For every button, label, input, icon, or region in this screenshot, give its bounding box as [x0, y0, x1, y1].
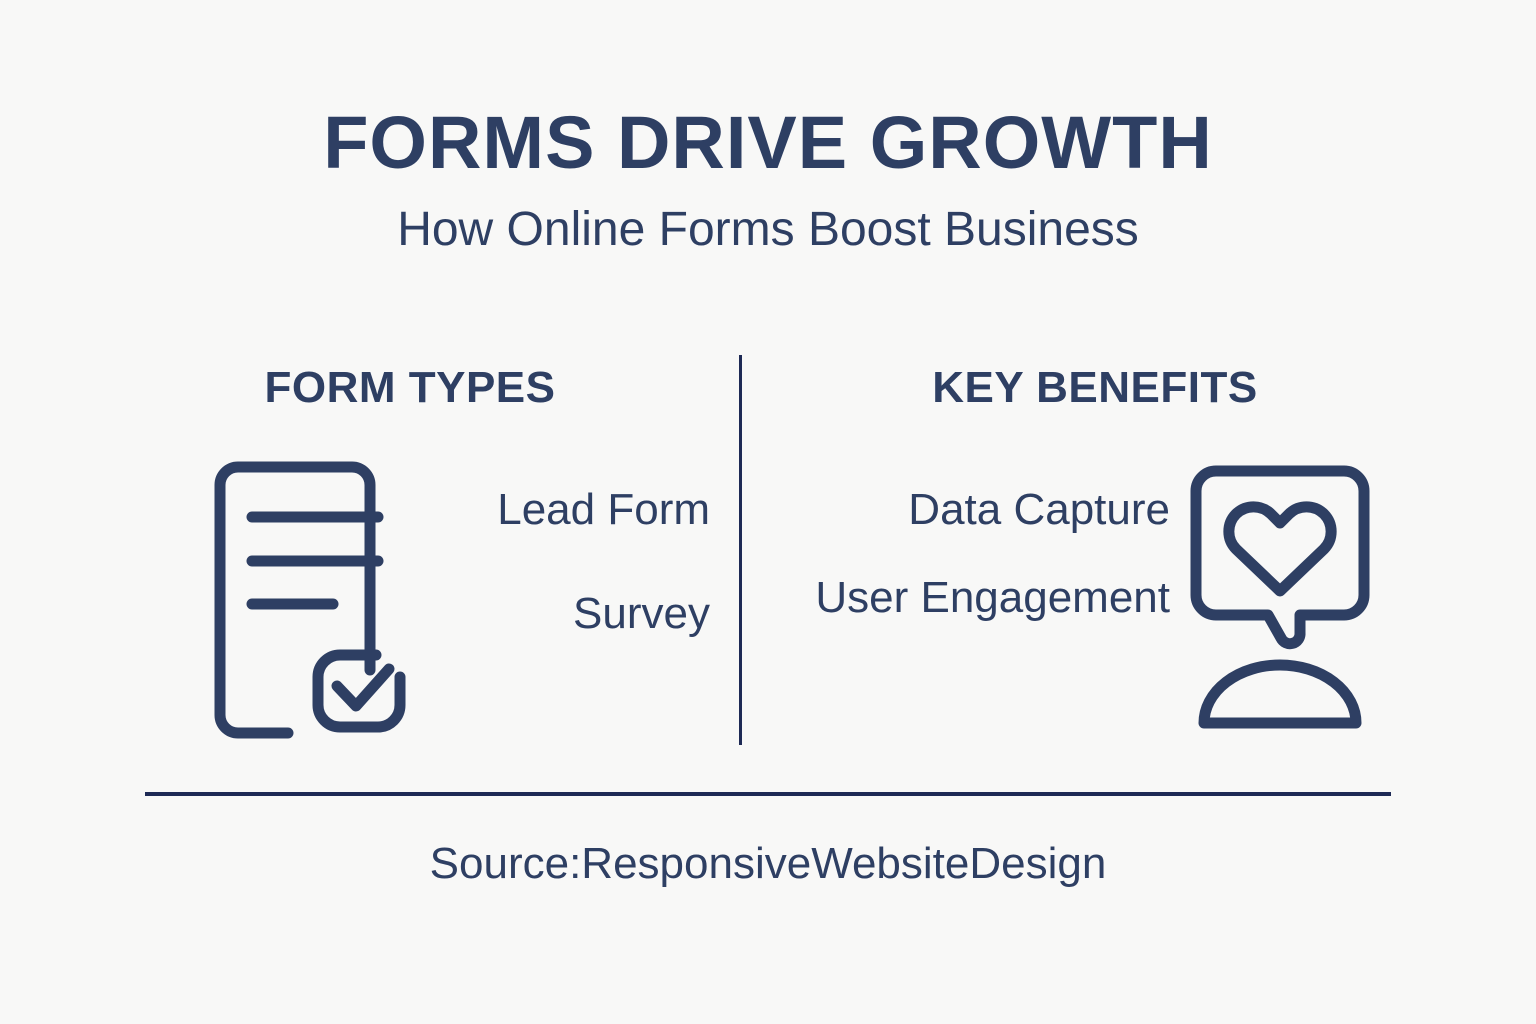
list-item: Survey [420, 587, 710, 641]
source-attribution: Source:ResponsiveWebsiteDesign [0, 842, 1536, 886]
key-benefits-label-list: Data Capture User Engagement [800, 483, 1170, 624]
form-types-label-list: Lead Form Survey [420, 483, 710, 640]
page-subtitle: How Online Forms Boost Business [0, 206, 1536, 254]
user-heart-speech-bubble-icon [1190, 465, 1370, 735]
list-item: User Engagement [800, 571, 1170, 625]
column-divider [739, 355, 742, 745]
section-heading-form-types: FORM TYPES [150, 366, 670, 410]
section-heading-key-benefits: KEY BENEFITS [815, 366, 1375, 410]
footer-divider [145, 792, 1391, 796]
document-checklist-icon [180, 455, 400, 745]
column-key-benefits: Data Capture User Engagement [800, 455, 1380, 745]
list-item: Data Capture [800, 483, 1170, 537]
infographic-canvas: FORMS DRIVE GROWTH How Online Forms Boos… [0, 0, 1536, 1024]
page-title: FORMS DRIVE GROWTH [0, 106, 1536, 180]
list-item: Lead Form [420, 483, 710, 537]
column-form-types: Lead Form Survey [150, 455, 710, 745]
